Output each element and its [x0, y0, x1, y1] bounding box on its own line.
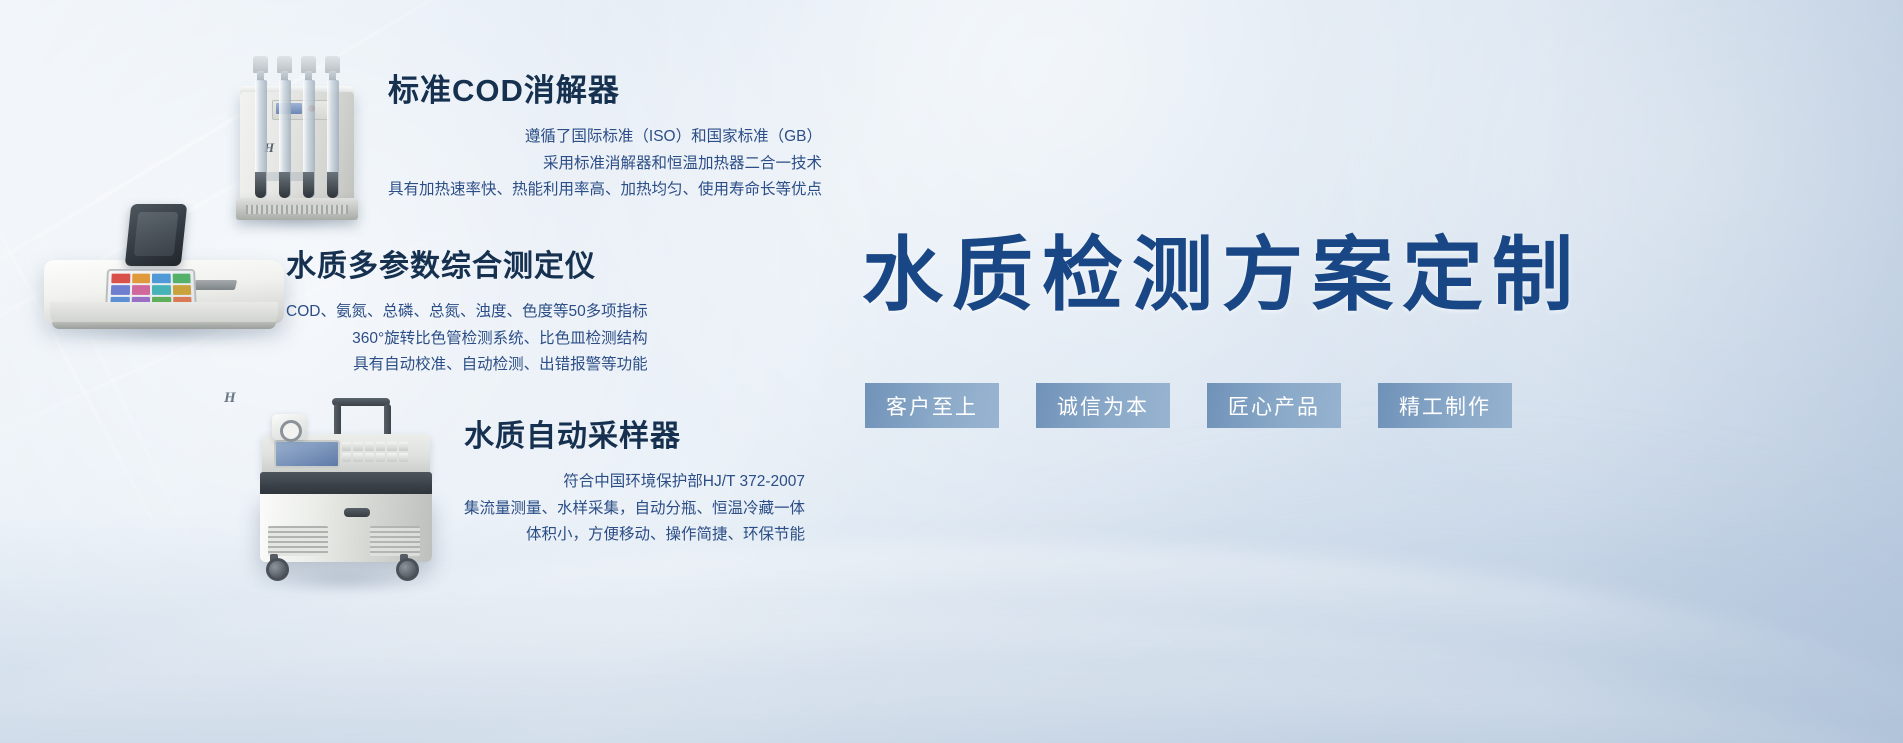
product-title: 水质自动采样器: [464, 420, 805, 453]
product-description-line: 采用标准消解器和恒温加热器二合一技术: [388, 151, 822, 178]
tag-fine-workmanship[interactable]: 精工制作: [1378, 383, 1512, 428]
caster-wheel-icon: [266, 558, 289, 581]
sample-tube: [324, 56, 341, 206]
product-description-line: 符合中国环境保护部HJ/T 372-2007: [464, 469, 805, 496]
cabinet-vent-grille: [268, 526, 328, 556]
analyzer-lid-inner: [134, 212, 179, 256]
sample-tube: [276, 56, 293, 206]
promo-banner: H: [0, 0, 1903, 743]
product-description-line: 360°旋转比色管检测系统、比色皿检测结构: [286, 326, 648, 353]
tag-customer-first[interactable]: 客户至上: [865, 383, 999, 428]
sample-tube: [252, 56, 269, 206]
sampler-handle-post: [384, 404, 391, 438]
tag-integrity-based[interactable]: 诚信为本: [1036, 383, 1170, 428]
product-description: COD、氨氮、总磷、总氮、浊度、色度等50多项指标 360°旋转比色管检测系统、…: [286, 299, 648, 379]
light-streak: [0, 121, 185, 581]
caster-wheel-icon: [396, 558, 419, 581]
wave-curve: [114, 673, 1903, 743]
product-description-line: 集流量测量、水样采集，自动分瓶、恒温冷藏一体: [464, 496, 805, 523]
product-title: 水质多参数综合测定仪: [286, 250, 648, 283]
product-block-cod-digester: 标准COD消解器 遵循了国际标准（ISO）和国家标准（GB） 采用标准消解器和恒…: [388, 74, 822, 204]
analyzer-front-panel: H: [50, 302, 278, 324]
sampler-handle-post: [334, 404, 341, 438]
analyzer-cuvette-slot: [193, 280, 237, 290]
sample-tube: [300, 56, 317, 206]
product-title: 标准COD消解器: [388, 74, 822, 108]
analyzer-feet: [52, 322, 276, 329]
product-description-line: 体积小，方便移动、操作简捷、环保节能: [464, 522, 805, 549]
cabinet-vent-grille: [370, 526, 420, 556]
tag-craftsmanship-product[interactable]: 匠心产品: [1207, 383, 1341, 428]
product-block-multiparameter-analyzer: 水质多参数综合测定仪 COD、氨氮、总磷、总氮、浊度、色度等50多项指标 360…: [286, 250, 648, 379]
auto-sampler-image: H: [248, 398, 436, 588]
cabinet-door-handle: [344, 508, 370, 517]
product-block-auto-sampler: 水质自动采样器 符合中国环境保护部HJ/T 372-2007 集流量测量、水样采…: [464, 420, 805, 549]
multiparameter-analyzer-image: H: [44, 206, 294, 334]
brand-mark: H: [224, 390, 236, 407]
right-gradient: [1543, 0, 1903, 743]
product-description-line: 遵循了国际标准（ISO）和国家标准（GB）: [388, 124, 822, 151]
sampler-keypad: [342, 442, 408, 462]
pump-rotor-icon: [280, 420, 302, 442]
light-ribbon-bottom: [761, 443, 1903, 743]
tag-row: 客户至上 诚信为本 匠心产品 精工制作: [865, 383, 1512, 428]
sampler-display: [274, 440, 340, 468]
banner-headline: 水质检测方案定制: [862, 236, 1872, 317]
cod-digester-image: H: [232, 48, 362, 218]
wave-curve: [0, 613, 1903, 743]
digester-tube-rack: [252, 48, 346, 208]
product-description: 遵循了国际标准（ISO）和国家标准（GB） 采用标准消解器和恒温加热器二合一技术…: [388, 124, 822, 204]
sampler-dark-band: H: [260, 472, 432, 496]
product-description-line: 具有加热速率快、热能利用率高、加热均匀、使用寿命长等优点: [388, 177, 822, 204]
product-description: 符合中国环境保护部HJ/T 372-2007 集流量测量、水样采集，自动分瓶、恒…: [464, 469, 805, 549]
product-description-line: 具有自动校准、自动检测、出错报警等功能: [286, 352, 648, 379]
product-description-line: COD、氨氮、总磷、总氮、浊度、色度等50多项指标: [286, 299, 648, 326]
